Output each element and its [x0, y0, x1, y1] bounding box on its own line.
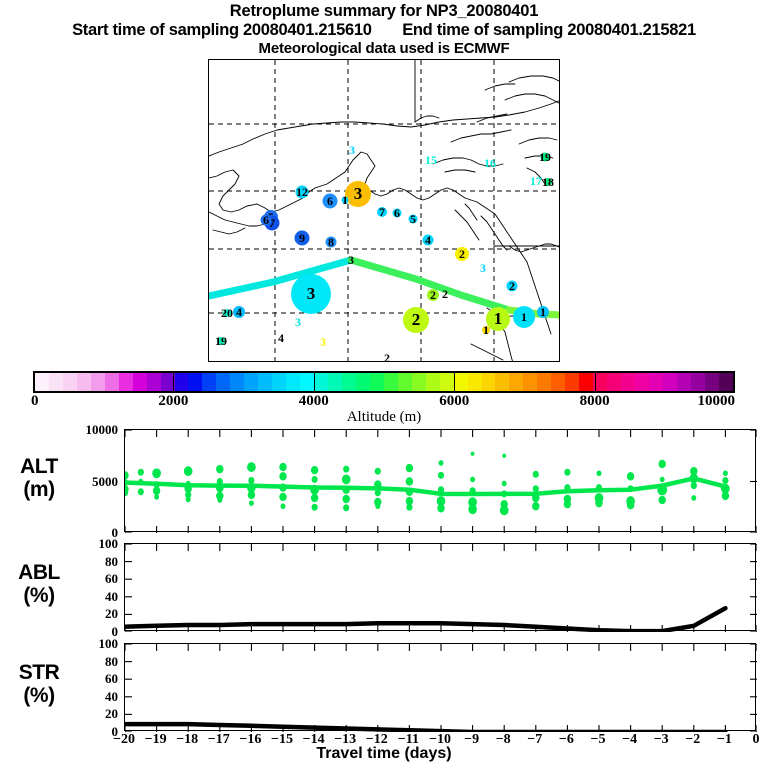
map-marker-label: 1	[521, 311, 527, 323]
colorbar-swatch	[426, 373, 440, 391]
alt-scatter-point	[342, 495, 349, 503]
panel-plot-alt	[125, 430, 757, 533]
altitude-colorbar	[33, 371, 735, 393]
alt-scatter-point	[154, 494, 159, 500]
alt-scatter-point	[125, 471, 129, 479]
map-marker-label: 6	[327, 195, 333, 207]
map-marker-label: 19	[215, 335, 227, 347]
map-marker-label: 1	[540, 306, 546, 318]
panel-str[interactable]	[124, 643, 756, 731]
colorbar-swatch	[300, 373, 314, 391]
alt-scatter-point	[471, 452, 475, 456]
colorbar-swatch	[286, 373, 300, 391]
start-time-label: Start time of sampling 20080401.215610	[72, 21, 372, 40]
alt-scatter-point	[248, 491, 255, 499]
title-block: Retroplume summary for NP3_20080401 Star…	[0, 0, 768, 57]
panel-abl[interactable]	[124, 543, 756, 631]
alt-scatter-point	[468, 504, 477, 514]
colorbar-swatch	[537, 373, 551, 391]
page-title: Retroplume summary for NP3_20080401	[0, 0, 768, 21]
colorbar-swatch	[119, 373, 133, 391]
colorbar-swatch	[258, 373, 272, 391]
colorbar-swatch	[454, 373, 468, 391]
colorbar-swatch	[621, 373, 635, 391]
colorbar-tick	[173, 371, 174, 393]
colorbar-tick-label: 4000	[299, 393, 329, 409]
colorbar-swatch	[579, 373, 593, 391]
alt-scatter-point	[595, 499, 602, 507]
panel-label-unit: (%)	[4, 684, 74, 707]
panel-plot-str	[125, 644, 757, 732]
colorbar-swatch	[565, 373, 579, 391]
panel-label-abl: ABL(%)	[4, 561, 74, 607]
colorbar-tick-label: 10000	[698, 393, 736, 409]
map-marker-label: 3	[348, 254, 354, 266]
alt-scatter-point	[722, 477, 728, 484]
colorbar-swatch	[691, 373, 705, 391]
map-marker-label: 12	[296, 186, 308, 198]
map-marker-label: 4	[278, 332, 284, 344]
colorbar-swatch	[663, 373, 677, 391]
ytick-label-alt: 10000	[58, 423, 118, 436]
map-marker-label: 1	[342, 194, 348, 206]
series-line-alt	[125, 478, 725, 494]
panel-label-unit: (m)	[4, 478, 74, 501]
panel-alt[interactable]	[124, 429, 756, 532]
alt-scatter-point	[152, 468, 161, 478]
colorbar-tick-label: 6000	[439, 393, 469, 409]
alt-scatter-point	[660, 477, 665, 483]
map-marker-label: 2	[509, 280, 515, 292]
colorbar-swatch	[314, 373, 328, 391]
alt-scatter-point	[184, 466, 193, 476]
alt-scatter-point	[311, 466, 318, 474]
panel-label-str: STR(%)	[4, 661, 74, 707]
alt-scatter-point	[502, 481, 507, 487]
map-marker-label: 3	[349, 144, 355, 156]
map-marker-label: 6	[394, 207, 400, 219]
ytick-label-str: 100	[58, 637, 118, 650]
alt-scatter-point	[311, 494, 318, 502]
colorbar-swatch	[635, 373, 649, 391]
alt-scatter-point	[279, 493, 286, 501]
alt-scatter-point	[153, 487, 160, 495]
map-marker-label: 1	[483, 324, 489, 336]
alt-scatter-point	[691, 495, 696, 501]
colorbar-tick	[314, 371, 315, 393]
map-marker-label: 2	[384, 352, 390, 362]
colorbar-swatch	[509, 373, 523, 391]
ytick-label-str: 20	[58, 707, 118, 720]
colorbar-swatch	[230, 373, 244, 391]
alt-scatter-point	[627, 501, 634, 509]
alt-scatter-point	[312, 476, 318, 483]
panel-plot-abl	[125, 544, 757, 632]
alt-scatter-point	[658, 460, 665, 468]
panel-label-name: ALT	[4, 455, 74, 478]
meteorology-label: Meteorological data used is ECMWF	[0, 40, 768, 57]
colorbar-swatch	[77, 373, 91, 391]
alt-scatter-point	[279, 463, 286, 471]
alt-scatter-point	[342, 475, 351, 485]
colorbar-swatch	[188, 373, 202, 391]
colorbar-swatch	[370, 373, 384, 391]
map-marker-label: 6	[263, 214, 269, 226]
colorbar-swatch	[719, 373, 733, 391]
colorbar-swatch	[495, 373, 509, 391]
colorbar-swatch	[468, 373, 482, 391]
colorbar-swatch	[202, 373, 216, 391]
map-marker-label: 4	[425, 234, 431, 246]
colorbar-swatch	[649, 373, 663, 391]
alt-scatter-point	[217, 497, 222, 503]
ytick-label-abl: 20	[58, 607, 118, 620]
colorbar-swatch	[677, 373, 691, 391]
alt-scatter-point	[502, 454, 506, 458]
map-marker-label: 9	[299, 232, 305, 244]
map-marker-label: 1	[494, 313, 503, 325]
alt-scatter-point	[564, 500, 571, 508]
map-marker-label: 3	[480, 262, 486, 274]
colorbar-swatch	[147, 373, 161, 391]
colorbar-swatch	[398, 373, 412, 391]
alt-scatter-point	[691, 482, 697, 489]
map-marker-label: 3	[354, 188, 363, 200]
colorbar-swatch	[105, 373, 119, 391]
alt-scatter-point	[138, 469, 144, 476]
alt-scatter-point	[247, 462, 256, 472]
panel-label-alt: ALT(m)	[4, 455, 74, 501]
colorbar-swatch	[133, 373, 147, 391]
colorbar-swatch	[272, 373, 286, 391]
colorbar-swatch	[328, 373, 342, 391]
colorbar-swatch	[244, 373, 258, 391]
alt-scatter-point	[281, 503, 286, 509]
alt-scatter-point	[723, 470, 728, 476]
panel-label-unit: (%)	[4, 584, 74, 607]
alt-scatter-point	[532, 502, 539, 510]
alt-scatter-point	[186, 497, 191, 503]
map-marker-label: 3	[320, 336, 326, 348]
colorbar-swatch	[342, 373, 356, 391]
alt-scatter-point	[406, 477, 413, 485]
ytick-label-str: 0	[58, 725, 118, 738]
end-time-label: End time of sampling 20080401.215821	[402, 21, 696, 40]
alt-scatter-point	[406, 464, 413, 472]
map-marker-label: 20	[221, 307, 233, 319]
map-marker-label: 17	[530, 175, 542, 187]
alt-scatter-point	[438, 472, 444, 479]
alt-scatter-point	[439, 460, 444, 466]
map-marker-label: 2	[442, 288, 448, 300]
colorbar-swatch	[356, 373, 370, 391]
alt-scatter-point	[533, 485, 539, 492]
alt-scatter-point	[564, 469, 570, 476]
colorbar-swatch	[91, 373, 105, 391]
colorbar-swatch	[384, 373, 398, 391]
colorbar-swatch	[705, 373, 719, 391]
colorbar-tick-label: 2000	[158, 393, 188, 409]
alt-scatter-point	[500, 505, 509, 515]
map-marker-label: 18	[542, 176, 554, 188]
alt-scatter-point	[597, 470, 602, 476]
map-marker-label: 7	[379, 206, 385, 218]
colorbar-swatch	[63, 373, 77, 391]
colorbar-swatch	[216, 373, 230, 391]
series-line-str	[125, 724, 725, 732]
colorbar-tick	[454, 371, 455, 393]
alt-scatter-point	[375, 468, 381, 475]
map-marker-label: 2	[459, 248, 465, 260]
alt-scatter-point	[138, 488, 144, 495]
alt-scatter-point	[627, 472, 634, 480]
map-marker-label: 2	[412, 314, 421, 326]
map-marker-label: 16	[484, 157, 496, 169]
colorbar-swatch	[440, 373, 454, 391]
alt-scatter-point	[406, 504, 412, 511]
xaxis-title: Travel time (days)	[0, 745, 768, 763]
alt-scatter-point	[533, 471, 539, 478]
map-marker-label: 19	[539, 151, 551, 163]
colorbar-tick-label: 0	[31, 393, 39, 409]
alt-scatter-point	[249, 500, 254, 506]
colorbar-swatch	[175, 373, 189, 391]
map-marker-label: 5	[410, 213, 416, 225]
alt-scatter-point	[375, 503, 380, 509]
map-marker-label: 15	[425, 154, 437, 166]
panel-label-name: STR	[4, 661, 74, 684]
colorbar-swatch	[35, 373, 49, 391]
ytick-label-abl: 100	[58, 537, 118, 550]
alt-scatter-point	[216, 465, 223, 473]
retroplume-map[interactable]: 1263176557698415161917182323332222043194…	[208, 59, 560, 362]
alt-scatter-point	[658, 496, 665, 504]
colorbar-swatch	[551, 373, 565, 391]
colorbar-swatch	[49, 373, 63, 391]
alt-scatter-point	[343, 466, 349, 473]
sampling-time-row: Start time of sampling 20080401.215610 E…	[0, 21, 768, 40]
alt-scatter-point	[279, 472, 286, 480]
alt-scatter-point	[437, 504, 444, 512]
map-marker-label: 4	[236, 306, 242, 318]
map-marker-label: 3	[295, 316, 301, 328]
colorbar-swatch	[523, 373, 537, 391]
alt-scatter-point	[722, 492, 729, 500]
colorbar-swatch	[607, 373, 621, 391]
colorbar-tick-label: 8000	[580, 393, 610, 409]
panel-label-name: ABL	[4, 561, 74, 584]
alt-scatter-point	[470, 477, 475, 483]
alt-scatter-point	[312, 504, 318, 511]
alt-scatter-point	[343, 504, 349, 511]
colorbar-swatch	[482, 373, 496, 391]
colorbar-tick	[595, 371, 596, 393]
map-marker-label: 3	[307, 288, 316, 300]
colorbar-swatch	[412, 373, 426, 391]
series-line-abl	[125, 608, 725, 631]
map-marker-label: 2	[430, 289, 436, 301]
map-marker-label: 8	[328, 236, 334, 248]
